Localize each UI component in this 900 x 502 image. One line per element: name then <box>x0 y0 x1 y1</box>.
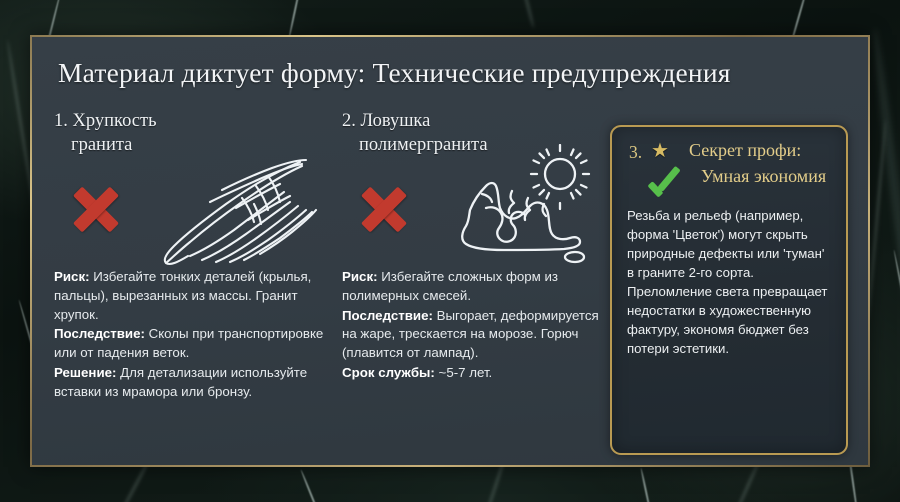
column-2-body: Риск: Избегайте сложных форм из полимерн… <box>342 268 604 383</box>
column-2-consequence-label: Последствие: <box>342 308 433 323</box>
column-2-icons <box>342 160 604 268</box>
warning-column-1: 1. Хрупкость гранита <box>54 109 330 403</box>
red-x-icon <box>68 182 124 238</box>
column-2-consequence: Последствие: Выгорает, деформируется на … <box>342 307 604 364</box>
column-2-heading: 2. Ловушка полимергранита <box>342 109 604 158</box>
pro-tip-heading-line2: Умная экономия <box>701 166 826 187</box>
column-2-heading-line2: полимергранита <box>342 133 604 157</box>
page-title: Материал диктует форму: Технические пред… <box>58 57 848 89</box>
warning-column-2: 2. Ловушка полимергранита <box>342 109 604 384</box>
pro-tip-card: 3. ★ Секрет профи: Умная экономия Резьба… <box>610 125 848 455</box>
column-2-heading-line1: Ловушка <box>361 111 431 131</box>
column-1-consequence: Последствие: Сколы при транспортировке и… <box>54 325 330 363</box>
column-1-risk-label: Риск: <box>54 269 90 284</box>
green-check-icon <box>649 166 683 194</box>
column-2-number: 2. <box>342 111 356 131</box>
star-icon: ★ <box>651 141 669 161</box>
column-1-consequence-label: Последствие: <box>54 326 145 341</box>
red-x-icon <box>356 182 412 238</box>
marble-vein <box>300 469 324 502</box>
marble-vein <box>870 29 900 328</box>
column-1-number: 1. <box>54 111 68 131</box>
pro-tip-heading: 3. ★ Секрет профи: Умная экономия <box>627 140 831 204</box>
slide-frame: Материал диктует форму: Технические пред… <box>30 35 870 467</box>
column-1-solution: Решение: Для детализации используйте вст… <box>54 364 330 402</box>
column-1-heading: 1. Хрупкость гранита <box>54 109 330 158</box>
melting-sun-icon <box>452 144 602 271</box>
column-1-icons <box>54 160 330 268</box>
column-1-heading-line2: гранита <box>54 133 330 157</box>
marble-vein <box>640 468 652 502</box>
marble-vein <box>520 0 535 29</box>
column-2-lifespan-text: ~5-7 лет. <box>435 365 492 380</box>
column-1-heading-line1: Хрупкость <box>73 111 157 131</box>
wing-icon <box>150 146 318 275</box>
column-2-lifespan: Срок службы: ~5-7 лет. <box>342 364 604 383</box>
marble-vein <box>288 0 302 39</box>
slide-stage: Материал диктует форму: Технические пред… <box>0 0 900 502</box>
pro-tip-heading-line1: Секрет профи: <box>689 140 801 161</box>
marble-vein <box>893 250 900 407</box>
column-2-risk: Риск: Избегайте сложных форм из полимерн… <box>342 268 604 306</box>
column-1-risk-text: Избегайте тонких деталей (крылья, пальцы… <box>54 269 311 322</box>
column-1-body: Риск: Избегайте тонких деталей (крылья, … <box>54 268 330 402</box>
column-2-lifespan-label: Срок службы: <box>342 365 435 380</box>
pro-tip-body: Резьба и рельеф (например, форма 'Цветок… <box>627 206 831 358</box>
pro-tip-body-text: Резьба и рельеф (например, форма 'Цветок… <box>627 206 831 358</box>
column-2-risk-label: Риск: <box>342 269 378 284</box>
column-1-risk: Риск: Избегайте тонких деталей (крылья, … <box>54 268 330 325</box>
column-1-solution-label: Решение: <box>54 365 116 380</box>
pro-tip-number: 3. <box>629 142 642 163</box>
